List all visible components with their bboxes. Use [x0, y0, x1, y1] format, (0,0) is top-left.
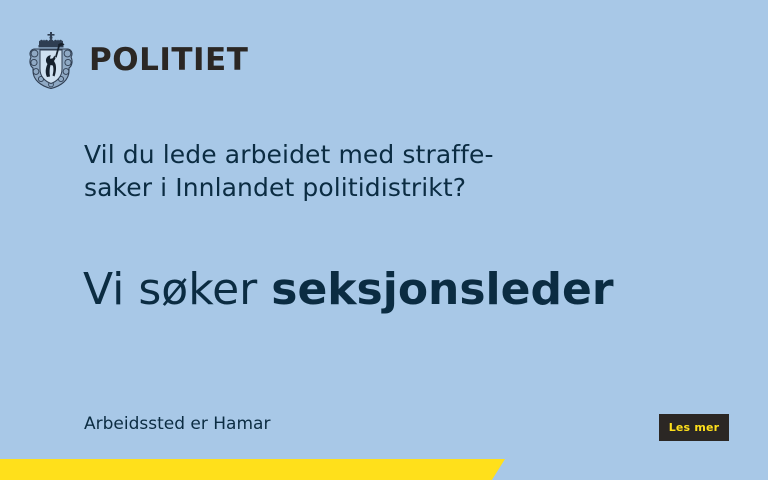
read-more-button[interactable]: Les mer — [659, 414, 729, 441]
recruitment-banner: POLITIET Vil du lede arbeidet med straff… — [0, 0, 768, 480]
kicker-question: Vil du lede arbeidet med straffe- saker … — [84, 139, 644, 204]
headline-role: seksjonsleder — [271, 264, 613, 315]
politiet-logo: POLITIET — [25, 31, 248, 89]
norwegian-coat-of-arms-icon — [25, 31, 77, 89]
politiet-wordmark: POLITIET — [89, 45, 248, 76]
kicker-line-2: saker i Innlandet politidistrikt? — [84, 172, 644, 205]
headline-prefix: Vi søker — [83, 264, 271, 315]
work-location-text: Arbeidssted er Hamar — [84, 414, 270, 434]
kicker-line-1: Vil du lede arbeidet med straffe- — [84, 139, 644, 172]
yellow-accent-stripe — [0, 459, 505, 480]
page-title: Vi søker seksjonsleder — [83, 265, 614, 314]
